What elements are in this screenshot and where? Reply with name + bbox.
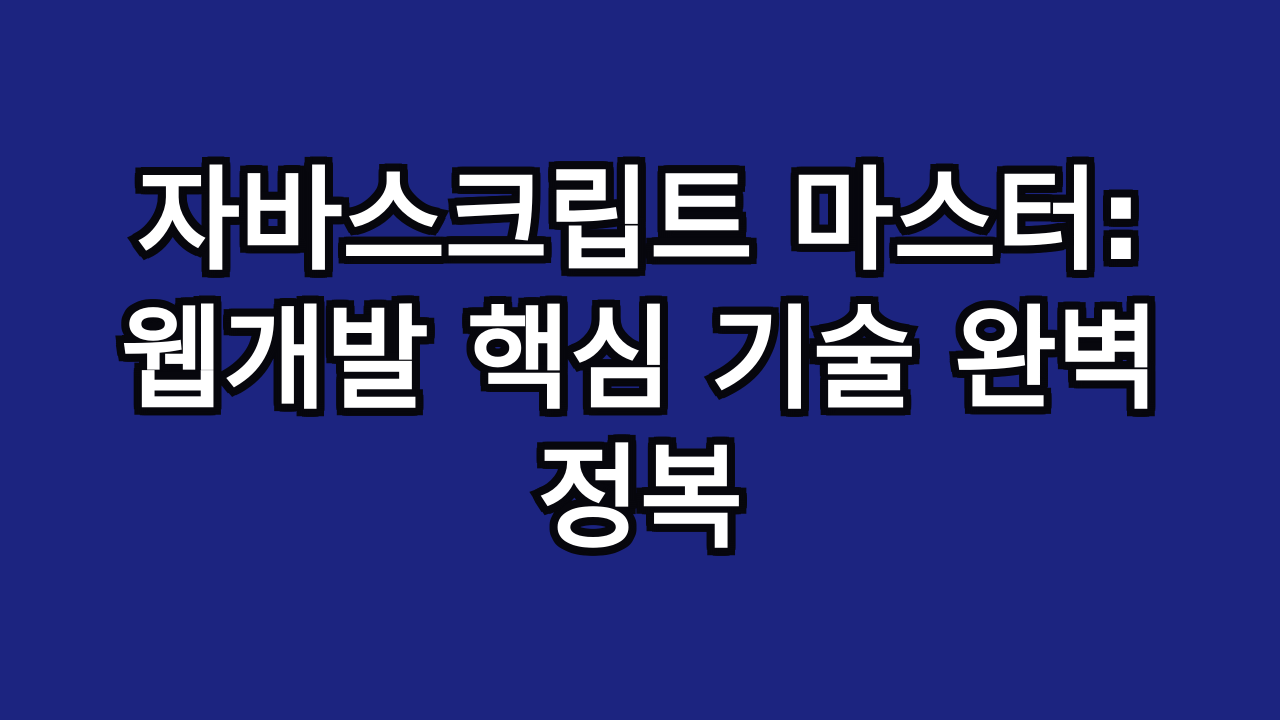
title-block: 자바스크립트 마스터: 웹개발 핵심 기술 완벽 정복 [45, 152, 1235, 569]
title-line-1: 자바스크립트 마스터: [45, 152, 1235, 291]
title-line-3: 정복 [45, 430, 1235, 569]
title-line-2: 웹개발 핵심 기술 완벽 [45, 291, 1235, 430]
thumbnail-canvas: 자바스크립트 마스터: 웹개발 핵심 기술 완벽 정복 [0, 0, 1280, 720]
